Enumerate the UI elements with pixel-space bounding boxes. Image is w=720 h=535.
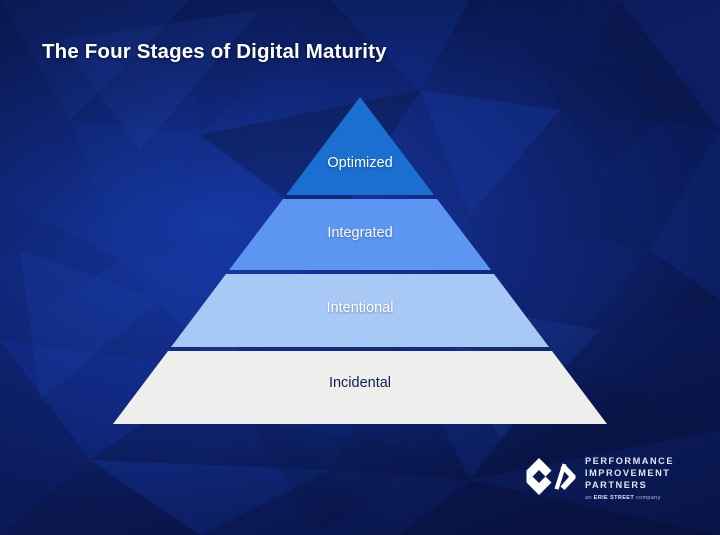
- logo-tagline-suffix: company: [634, 495, 661, 501]
- company-logo: PERFORMANCE IMPROVEMENT PARTNERS an ERIE…: [524, 455, 684, 517]
- maturity-pyramid-diagram: Optimized Integrated Intentional Inciden…: [113, 97, 607, 424]
- pyramid-tier-integrated: [229, 199, 491, 270]
- logo-wordmark: PERFORMANCE IMPROVEMENT PARTNERS an ERIE…: [585, 455, 674, 502]
- pyramid-tier-incidental: [113, 351, 607, 424]
- pyramid-tier-intentional: [171, 274, 549, 347]
- slide-canvas: The Four Stages of Digital Maturity Opti…: [0, 0, 720, 535]
- logo-tagline-prefix: an: [585, 495, 594, 501]
- logo-tagline: an ERIE STREET company: [585, 495, 674, 502]
- logo-line-performance: PERFORMANCE: [585, 456, 674, 467]
- logo-line-improvement: IMPROVEMENT: [585, 468, 674, 479]
- code-brackets-diamond-icon: [524, 458, 576, 496]
- page-title: The Four Stages of Digital Maturity: [42, 40, 387, 64]
- pyramid-tier-optimized: [286, 97, 434, 195]
- logo-line-partners: PARTNERS: [585, 480, 674, 491]
- logo-tagline-brand: ERIE STREET: [594, 495, 635, 501]
